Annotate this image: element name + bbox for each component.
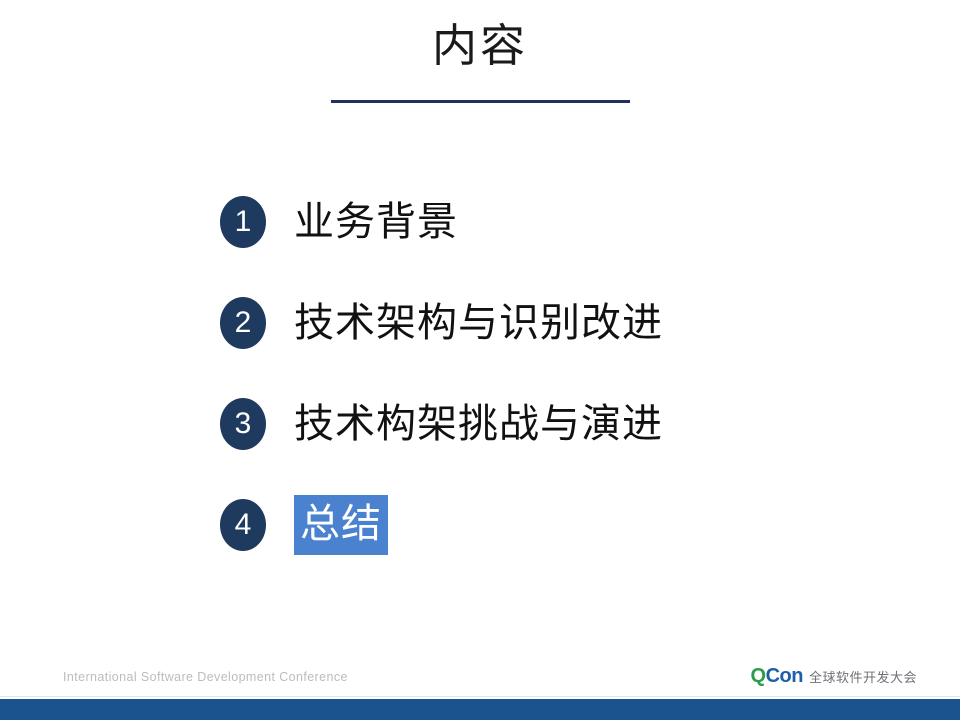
list-item[interactable]: 4 总结	[220, 499, 900, 600]
agenda-list: 1 业务背景 2 技术架构与识别改进 3 技术构架挑战与演进 4 总结	[220, 196, 900, 600]
agenda-item-label-3[interactable]: 技术构架挑战与演进	[294, 398, 663, 450]
agenda-number-badge-1: 1	[220, 196, 266, 248]
list-item[interactable]: 3 技术构架挑战与演进	[220, 398, 900, 499]
agenda-number-badge-4: 4	[220, 499, 266, 551]
footer-divider	[0, 696, 960, 697]
qcon-logo: Q Con 全球软件开发大会	[751, 666, 917, 688]
title-underline-rule	[331, 100, 630, 103]
agenda-item-label-4-highlighted[interactable]: 总结	[294, 495, 388, 555]
qcon-logo-q-mark: Q	[751, 666, 766, 686]
footer-tagline: International Software Development Confe…	[63, 669, 348, 685]
agenda-number-badge-2: 2	[220, 297, 266, 349]
qcon-logo-chinese-name: 全球软件开发大会	[809, 668, 917, 688]
page-title: 内容	[0, 18, 960, 74]
qcon-logo-con-mark: Con	[766, 666, 803, 686]
footer-accent-bar	[0, 699, 960, 720]
agenda-number-badge-3: 3	[220, 398, 266, 450]
agenda-item-label-1[interactable]: 业务背景	[294, 196, 458, 248]
presentation-slide: 内容 1 业务背景 2 技术架构与识别改进 3 技术构架挑战与演进 4 总结 I…	[0, 0, 960, 720]
agenda-item-label-2[interactable]: 技术架构与识别改进	[294, 297, 663, 349]
list-item[interactable]: 1 业务背景	[220, 196, 900, 297]
list-item[interactable]: 2 技术架构与识别改进	[220, 297, 900, 398]
